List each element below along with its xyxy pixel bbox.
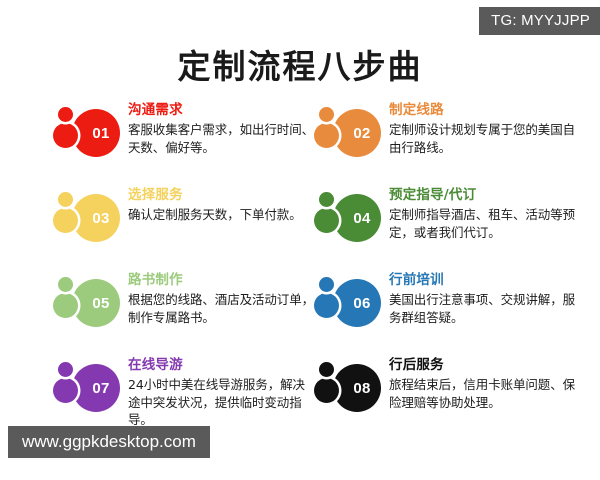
step-text-block: 预定指导/代订 定制师指导酒店、租车、活动等预定，或者我们代订。 [389,187,575,241]
badge-small-circle-icon [319,277,334,292]
step-text-block: 制定线路 定制师设计规划专属于您的美国自由行路线。 [389,102,575,156]
step-title: 选择服务 [128,187,314,204]
step-text-block: 路书制作 根据您的线路、酒店及活动订单，制作专属路书。 [128,272,314,326]
step-number: 04 [333,194,381,242]
step-badge-06: 06 [305,275,387,331]
step-item-03: 03 选择服务 确认定制服务天数，下单付款。 [44,187,314,272]
step-item-01: 01 沟通需求 客服收集客户需求，如出行时间、天数、偏好等。 [44,102,314,187]
step-description: 定制师指导酒店、租车、活动等预定，或者我们代订。 [389,206,575,242]
page-title: 定制流程八步曲 [0,40,600,88]
step-badge-01: 01 [44,105,126,161]
step-item-04: 04 预定指导/代订 定制师指导酒店、租车、活动等预定，或者我们代订。 [305,187,575,272]
step-text-block: 选择服务 确认定制服务天数，下单付款。 [128,187,314,224]
step-item-02: 02 制定线路 定制师设计规划专属于您的美国自由行路线。 [305,102,575,187]
step-description: 确认定制服务天数，下单付款。 [128,206,314,224]
step-badge-08: 08 [305,360,387,416]
step-text-block: 沟通需求 客服收集客户需求，如出行时间、天数、偏好等。 [128,102,314,156]
step-description: 旅程结束后，信用卡账单问题、保险理赔等协助处理。 [389,376,575,412]
step-text-block: 行后服务 旅程结束后，信用卡账单问题、保险理赔等协助处理。 [389,357,575,411]
step-title: 行前培训 [389,272,575,289]
step-title: 制定线路 [389,102,575,119]
steps-grid: 01 沟通需求 客服收集客户需求，如出行时间、天数、偏好等。 02 制定线路 定… [0,100,600,470]
step-number: 07 [72,364,120,412]
step-title: 预定指导/代订 [389,187,575,204]
infographic-page: TG: MYYJJPP 定制流程八步曲 01 沟通需求 客服收集客户需求，如出行… [0,0,600,480]
badge-small-circle-icon [58,107,73,122]
step-number: 05 [72,279,120,327]
step-description: 美国出行注意事项、交规讲解，服务群组答疑。 [389,291,575,327]
step-item-08: 08 行后服务 旅程结束后，信用卡账单问题、保险理赔等协助处理。 [305,357,575,442]
step-item-06: 06 行前培训 美国出行注意事项、交规讲解，服务群组答疑。 [305,272,575,357]
step-number: 03 [72,194,120,242]
badge-small-circle-icon [58,277,73,292]
step-badge-05: 05 [44,275,126,331]
step-description: 定制师设计规划专属于您的美国自由行路线。 [389,121,575,157]
step-badge-07: 07 [44,360,126,416]
step-description: 客服收集客户需求，如出行时间、天数、偏好等。 [128,121,314,157]
watermark-top-right: TG: MYYJJPP [479,7,600,35]
step-item-05: 05 路书制作 根据您的线路、酒店及活动订单，制作专属路书。 [44,272,314,357]
badge-small-circle-icon [58,362,73,377]
badge-small-circle-icon [58,192,73,207]
step-badge-02: 02 [305,105,387,161]
step-number: 01 [72,109,120,157]
step-number: 06 [333,279,381,327]
step-number: 08 [333,364,381,412]
step-title: 在线导游 [128,357,314,374]
badge-small-circle-icon [319,192,334,207]
step-title: 路书制作 [128,272,314,289]
badge-small-circle-icon [319,362,334,377]
step-title: 沟通需求 [128,102,314,119]
step-description: 根据您的线路、酒店及活动订单，制作专属路书。 [128,291,314,327]
step-title: 行后服务 [389,357,575,374]
step-text-block: 在线导游 24小时中美在线导游服务，解决途中突发状况，提供临时变动指导。 [128,357,314,429]
step-text-block: 行前培训 美国出行注意事项、交规讲解，服务群组答疑。 [389,272,575,326]
step-badge-03: 03 [44,190,126,246]
step-badge-04: 04 [305,190,387,246]
watermark-bottom-left: www.ggpkdesktop.com [8,426,210,458]
step-description: 24小时中美在线导游服务，解决途中突发状况，提供临时变动指导。 [128,376,314,429]
badge-small-circle-icon [319,107,334,122]
step-number: 02 [333,109,381,157]
